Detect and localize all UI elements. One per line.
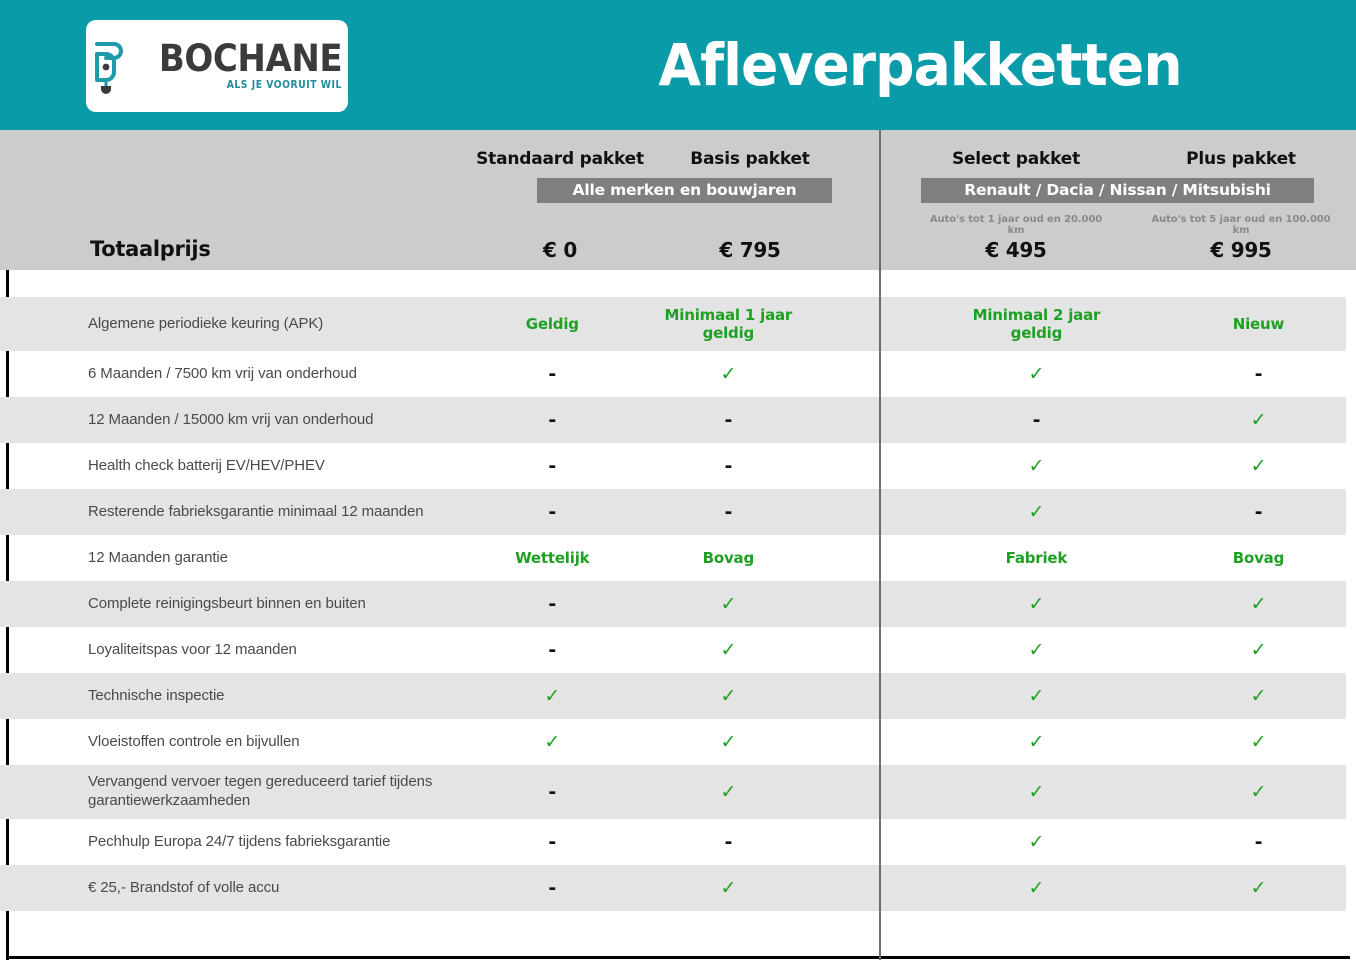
cell-select: ✓ [946,731,1127,753]
cell-plus: ✓ [1171,593,1346,615]
row-label: Technische inspectie [0,687,462,706]
check-icon: ✓ [1029,639,1045,661]
cell-standaard: Geldig [462,315,643,333]
cell-select: ✓ [946,363,1127,385]
check-icon: ✓ [544,731,560,753]
dash-icon: - [548,593,556,615]
row-label: € 25,- Brandstof of volle accu [0,879,462,898]
cell-basis: ✓ [643,685,814,707]
table-row: Health check batterij EV/HEV/PHEV--✓✓ [0,443,1346,489]
check-icon: ✓ [544,685,560,707]
check-icon: ✓ [720,363,736,385]
dash-icon: - [1255,501,1263,523]
bochane-logo: BOCHANE ALS JE VOORUIT WIL [86,20,348,112]
cell-select: ✓ [946,501,1127,523]
group-bar-renault-dacia-nissan-mitsubishi: Renault / Dacia / Nissan / Mitsubishi [921,178,1314,203]
check-icon: ✓ [720,781,736,803]
cell-basis: ✓ [643,731,814,753]
comparison-table: Algemene periodieke keuring (APK)GeldigM… [0,270,1356,960]
cell-basis: ✓ [643,877,814,899]
cell-select: ✓ [946,781,1127,803]
cell-plus: ✓ [1171,731,1346,753]
cell-plus: Nieuw [1171,315,1346,333]
cell-select: ✓ [946,877,1127,899]
check-icon: ✓ [1251,639,1267,661]
dash-icon: - [548,877,556,899]
cell-standaard: - [462,501,643,523]
check-icon: ✓ [720,593,736,615]
table-row: Algemene periodieke keuring (APK)GeldigM… [0,297,1346,351]
cell-basis: - [643,409,814,431]
cell-plus: ✓ [1171,455,1346,477]
check-icon: ✓ [1029,593,1045,615]
dash-icon: - [1033,409,1041,431]
cell-basis: - [643,831,814,853]
check-icon: ✓ [1029,455,1045,477]
cell-plus: Bovag [1171,549,1346,567]
column-note-select: Auto's tot 1 jaar oud en 20.000 km [924,214,1108,236]
cell-basis: Minimaal 1 jaar geldig [643,306,814,342]
cell-standaard: - [462,593,643,615]
cell-plus: ✓ [1171,409,1346,431]
cell-select: Fabriek [946,549,1127,567]
row-label: Algemene periodieke keuring (APK) [0,315,462,334]
row-label: 6 Maanden / 7500 km vrij van onderhoud [0,365,462,384]
page-title: Afleverpakketten [635,22,1205,108]
cell-standaard: - [462,455,643,477]
logo-tagline: ALS JE VOORUIT WIL [227,79,342,91]
dash-icon: - [548,409,556,431]
table-row: Vervangend vervoer tegen gereduceerd tar… [0,765,1346,819]
table-bottom-spacer [0,911,1356,958]
row-label: Resterende fabrieksgarantie minimaal 12 … [0,503,462,522]
cell-select: ✓ [946,831,1127,853]
row-label: Vervangend vervoer tegen gereduceerd tar… [0,773,462,811]
dash-icon: - [548,639,556,661]
row-label: Complete reinigingsbeurt binnen en buite… [0,595,462,614]
cell-plus: ✓ [1171,877,1346,899]
check-icon: ✓ [720,877,736,899]
check-icon: ✓ [1251,455,1267,477]
column-header-select: Select pakket [924,149,1108,169]
price-plus: € 995 [1152,238,1330,262]
cell-standaard: - [462,781,643,803]
cell-basis: - [643,501,814,523]
cell-standaard: Wettelijk [462,549,643,567]
check-icon: ✓ [1251,731,1267,753]
cell-standaard: - [462,877,643,899]
check-icon: ✓ [1251,409,1267,431]
dash-icon: - [548,831,556,853]
row-label: 12 Maanden / 15000 km vrij van onderhoud [0,411,462,430]
cell-basis: ✓ [643,781,814,803]
cell-plus: - [1171,501,1346,523]
table-row: 12 Maanden / 15000 km vrij van onderhoud… [0,397,1346,443]
cell-plus: ✓ [1171,685,1346,707]
cell-standaard: ✓ [462,731,643,753]
table-row: Complete reinigingsbeurt binnen en buite… [0,581,1346,627]
logo-name: BOCHANE [159,41,342,76]
check-icon: ✓ [720,639,736,661]
cell-select: - [946,409,1127,431]
afleverpakketten-page: BOCHANE ALS JE VOORUIT WIL Afleverpakket… [0,0,1356,960]
check-icon: ✓ [1251,877,1267,899]
row-label: 12 Maanden garantie [0,549,462,568]
row-label: Pechhulp Europa 24/7 tijdens fabrieksgar… [0,833,462,852]
price-select: € 495 [924,238,1108,262]
table-row: Resterende fabrieksgarantie minimaal 12 … [0,489,1346,535]
check-icon: ✓ [1029,501,1045,523]
cell-standaard: - [462,831,643,853]
cell-plus: ✓ [1171,781,1346,803]
table-row: 12 Maanden garantieWettelijkBovagFabriek… [0,535,1346,581]
cell-select: ✓ [946,455,1127,477]
check-icon: ✓ [1251,685,1267,707]
check-icon: ✓ [1029,685,1045,707]
group-bar-alle-merken: Alle merken en bouwjaren [537,178,832,203]
cell-standaard: - [462,409,643,431]
table-rows: Algemene periodieke keuring (APK)GeldigM… [0,270,1356,958]
totaalprijs-label: Totaalprijs [90,237,211,261]
price-standaard: € 0 [468,238,652,262]
dash-icon: - [725,455,733,477]
table-row: 6 Maanden / 7500 km vrij van onderhoud-✓… [0,351,1346,397]
table-bottom-border [6,956,1350,959]
row-label: Health check batterij EV/HEV/PHEV [0,457,462,476]
cell-select: ✓ [946,639,1127,661]
logo-wordmark: BOCHANE ALS JE VOORUIT WIL [143,41,342,91]
cell-select: Minimaal 2 jaar geldig [946,306,1127,342]
column-header-plus: Plus pakket [1152,149,1330,169]
dash-icon: - [1255,831,1263,853]
dash-icon: - [548,363,556,385]
check-icon: ✓ [720,685,736,707]
table-row: Technische inspectie✓✓✓✓ [0,673,1346,719]
cell-standaard: - [462,639,643,661]
price-basis: € 795 [663,238,837,262]
check-icon: ✓ [720,731,736,753]
table-row: Pechhulp Europa 24/7 tijdens fabrieksgar… [0,819,1346,865]
column-note-plus: Auto's tot 5 jaar oud en 100.000 km [1142,214,1340,236]
table-top-spacer [0,270,1356,297]
check-icon: ✓ [1029,831,1045,853]
page-banner: BOCHANE ALS JE VOORUIT WIL Afleverpakket… [0,0,1356,130]
cell-basis: - [643,455,814,477]
check-icon: ✓ [1029,781,1045,803]
cell-select: ✓ [946,593,1127,615]
cell-standaard: ✓ [462,685,643,707]
dash-icon: - [725,409,733,431]
dash-icon: - [1255,363,1263,385]
bochane-logo-mark [92,38,134,94]
cell-basis: ✓ [643,639,814,661]
cell-select: ✓ [946,685,1127,707]
dash-icon: - [548,455,556,477]
dash-icon: - [725,831,733,853]
check-icon: ✓ [1251,593,1267,615]
cell-basis: Bovag [643,549,814,567]
column-header-basis: Basis pakket [663,149,837,169]
row-label: Loyaliteitspas voor 12 maanden [0,641,462,660]
check-icon: ✓ [1251,781,1267,803]
check-icon: ✓ [1029,731,1045,753]
dash-icon: - [725,501,733,523]
table-row: € 25,- Brandstof of volle accu-✓✓✓ [0,865,1346,911]
table-row: Loyaliteitspas voor 12 maanden-✓✓✓ [0,627,1346,673]
check-icon: ✓ [1029,877,1045,899]
cell-basis: ✓ [643,363,814,385]
cell-plus: - [1171,363,1346,385]
cell-plus: - [1171,831,1346,853]
cell-standaard: - [462,363,643,385]
cell-plus: ✓ [1171,639,1346,661]
table-row: Vloeistoffen controle en bijvullen✓✓✓✓ [0,719,1346,765]
dash-icon: - [548,501,556,523]
dash-icon: - [548,781,556,803]
column-group-divider [879,130,881,960]
row-label: Vloeistoffen controle en bijvullen [0,733,462,752]
column-header-standaard: Standaard pakket [468,149,652,169]
check-icon: ✓ [1029,363,1045,385]
cell-basis: ✓ [643,593,814,615]
